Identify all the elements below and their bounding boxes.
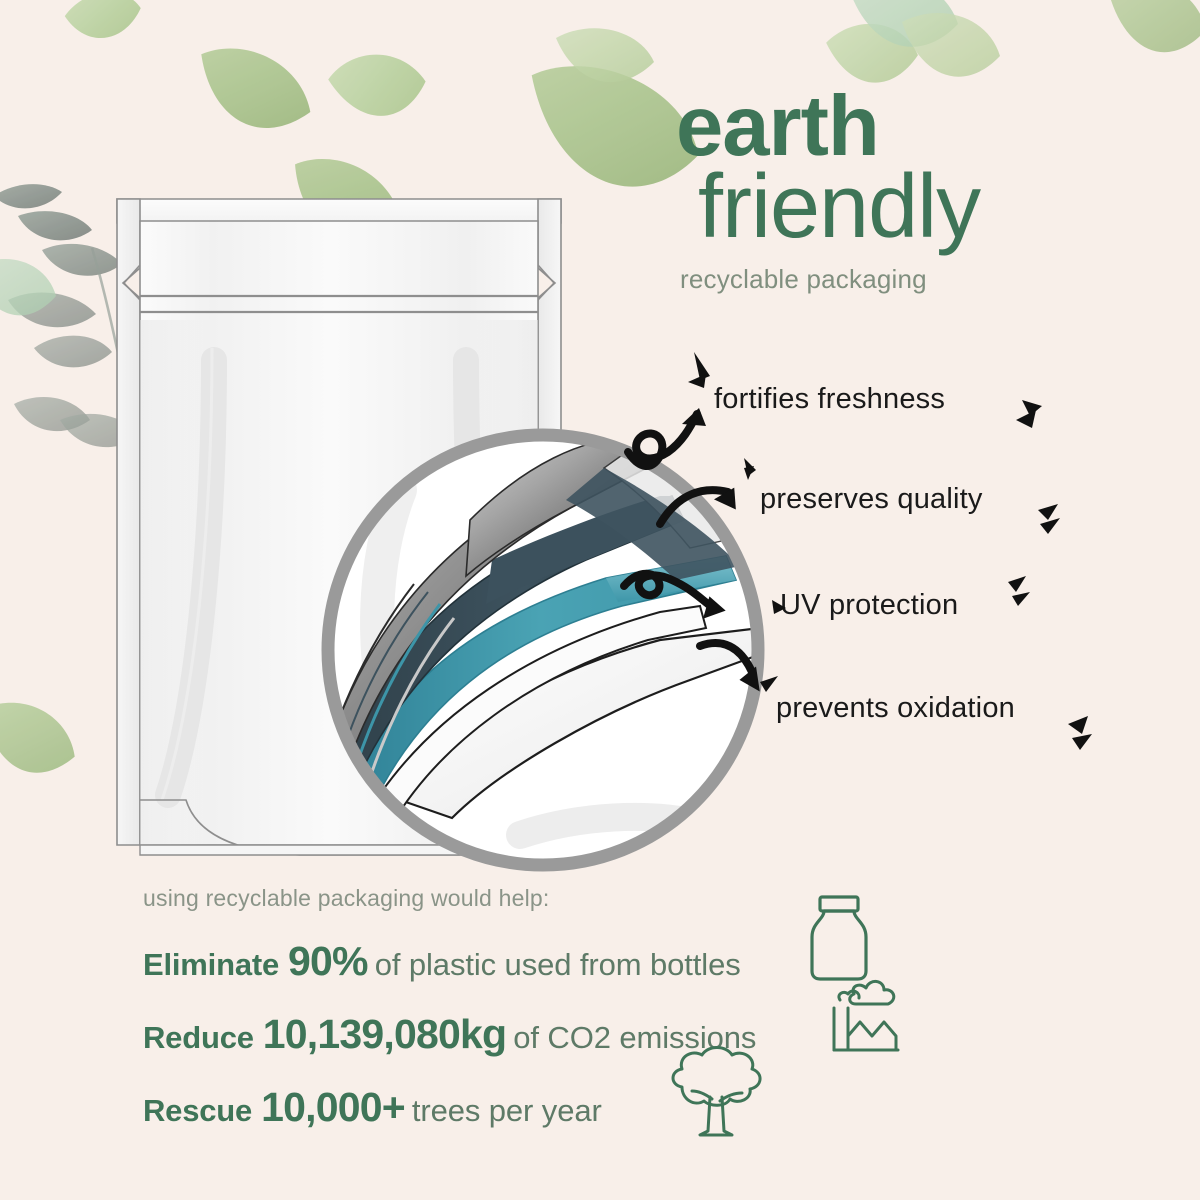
curved-down-arrow — [700, 643, 752, 672]
stat-row-rescue: Rescue 10,000+ trees per year — [143, 1084, 1043, 1131]
curved-right-arrow — [660, 490, 728, 524]
spark — [1072, 734, 1092, 750]
spark — [1022, 400, 1042, 416]
bottle-icon — [800, 893, 878, 983]
stat-tail: of plastic used from bottles — [375, 947, 741, 983]
loop-right-arrow — [624, 574, 708, 604]
stats-lede: using recyclable packaging would help: — [143, 885, 1043, 912]
spark — [1038, 504, 1058, 520]
stat-value: 10,000+ — [261, 1084, 405, 1131]
stat-value: 90% — [288, 938, 368, 985]
spark — [772, 600, 786, 614]
spark — [688, 374, 706, 388]
stat-verb: Eliminate — [143, 947, 279, 983]
spark — [1008, 576, 1026, 592]
stat-row-eliminate: Eliminate 90% of plastic used from bottl… — [143, 938, 1043, 985]
spark — [1012, 592, 1030, 606]
spark — [760, 676, 778, 692]
factory-icon — [826, 974, 908, 1056]
impact-stats-block: using recyclable packaging would help: E… — [143, 885, 1043, 1131]
spark — [1068, 716, 1088, 734]
stat-verb: Reduce — [143, 1020, 254, 1056]
infographic-canvas: earth friendly recyclable packaging fort… — [0, 0, 1200, 1200]
tree-icon — [660, 1043, 772, 1141]
stat-value: 10,139,080kg — [263, 1011, 506, 1058]
spark — [1040, 518, 1060, 534]
stat-tail: trees per year — [412, 1093, 602, 1129]
stat-verb: Rescue — [143, 1093, 252, 1129]
stat-row-reduce: Reduce 10,139,080kg of CO2 emissions — [143, 1011, 1043, 1058]
arrowhead-1 — [682, 408, 706, 426]
spark — [744, 466, 754, 480]
